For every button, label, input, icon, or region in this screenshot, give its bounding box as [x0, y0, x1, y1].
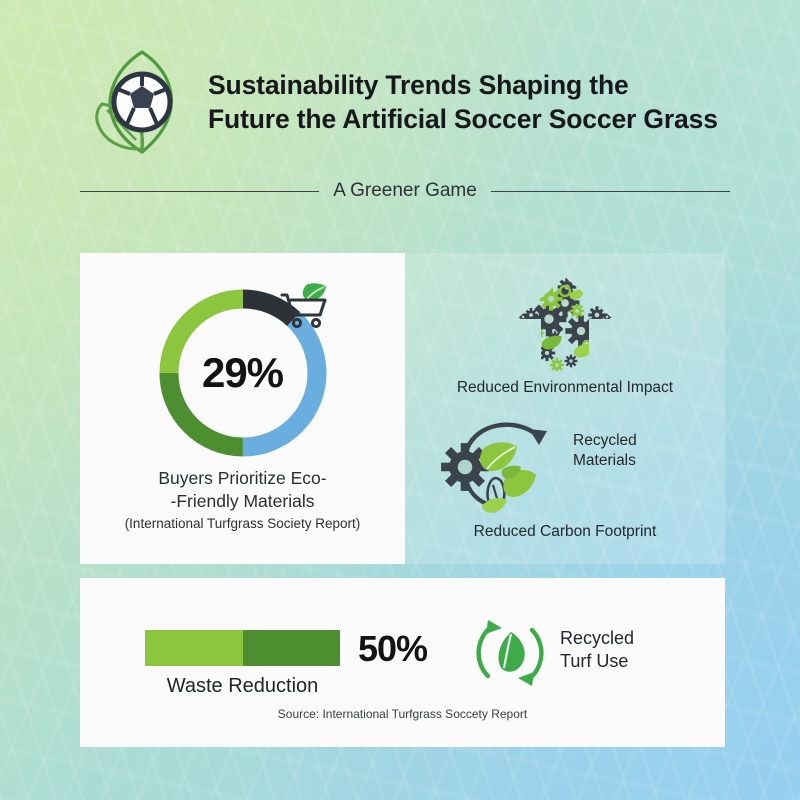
- header: Sustainability Trends Shaping the Future…: [80, 44, 730, 162]
- donut-caption-source: (International Turfgrass Society Report): [80, 516, 405, 531]
- divider-left: [80, 191, 319, 192]
- top-card-row: 29% Buyers Prioritize Eco- -Friendly Mat…: [80, 253, 725, 564]
- recycled-turf-use-line-1: Recycled: [560, 627, 690, 650]
- bottom-stat-card: Waste Reduction 50% Recycled Turf Use So…: [80, 578, 725, 747]
- donut-caption-line-1: Buyers Prioritize Eco-: [80, 467, 405, 490]
- leaf-soccer-ball-icon: [80, 44, 202, 162]
- benefit-label-recycled-line-1: Recycled: [573, 431, 683, 451]
- benefits-card: Reduced Environmental Impact: [405, 253, 725, 564]
- donut-caption: Buyers Prioritize Eco- -Friendly Materia…: [80, 467, 405, 531]
- benefit-label-recycled-line-2: Materials: [573, 451, 683, 471]
- subtitle: A Greener Game: [333, 180, 477, 202]
- source-note: Source: International Turfgrass Soccety …: [80, 707, 725, 721]
- divider-right: [491, 191, 730, 192]
- page-title-line-2: Future the Artificial Soccer Soccer Gras…: [208, 103, 718, 137]
- recycle-leaf-icon: [470, 612, 552, 694]
- recycled-turf-use-label: Recycled Turf Use: [560, 627, 690, 673]
- recycled-turf-use-line-2: Turf Use: [560, 650, 690, 673]
- subtitle-row: A Greener Game: [80, 178, 730, 204]
- progress-bar-label: Waste Reduction: [145, 675, 340, 698]
- progress-bar-segment-light: [145, 630, 243, 666]
- page-title: Sustainability Trends Shaping the Future…: [208, 69, 718, 137]
- upward-arrow-gears-leaves-icon: [509, 275, 621, 373]
- benefit-label-carbon-footprint: Reduced Carbon Footprint: [405, 523, 725, 541]
- donut-caption-line-2: -Friendly Materials: [80, 490, 405, 513]
- progress-bar: [145, 630, 340, 666]
- donut-stat-card: 29% Buyers Prioritize Eco- -Friendly Mat…: [80, 253, 405, 564]
- progress-bar-segment-dark: [243, 630, 341, 666]
- gear-leaf-cycle-icon: [433, 405, 583, 525]
- waste-reduction-chart: Waste Reduction: [145, 630, 340, 698]
- page-title-line-1: Sustainability Trends Shaping the: [208, 69, 718, 103]
- benefit-label-recycled-materials: Recycled Materials: [573, 431, 683, 471]
- infographic-poster: Sustainability Trends Shaping the Future…: [0, 0, 800, 800]
- progress-bar-value: 50%: [358, 628, 427, 670]
- benefit-label-environmental: Reduced Environmental Impact: [405, 379, 725, 397]
- shopping-cart-leaf-icon: [278, 281, 330, 329]
